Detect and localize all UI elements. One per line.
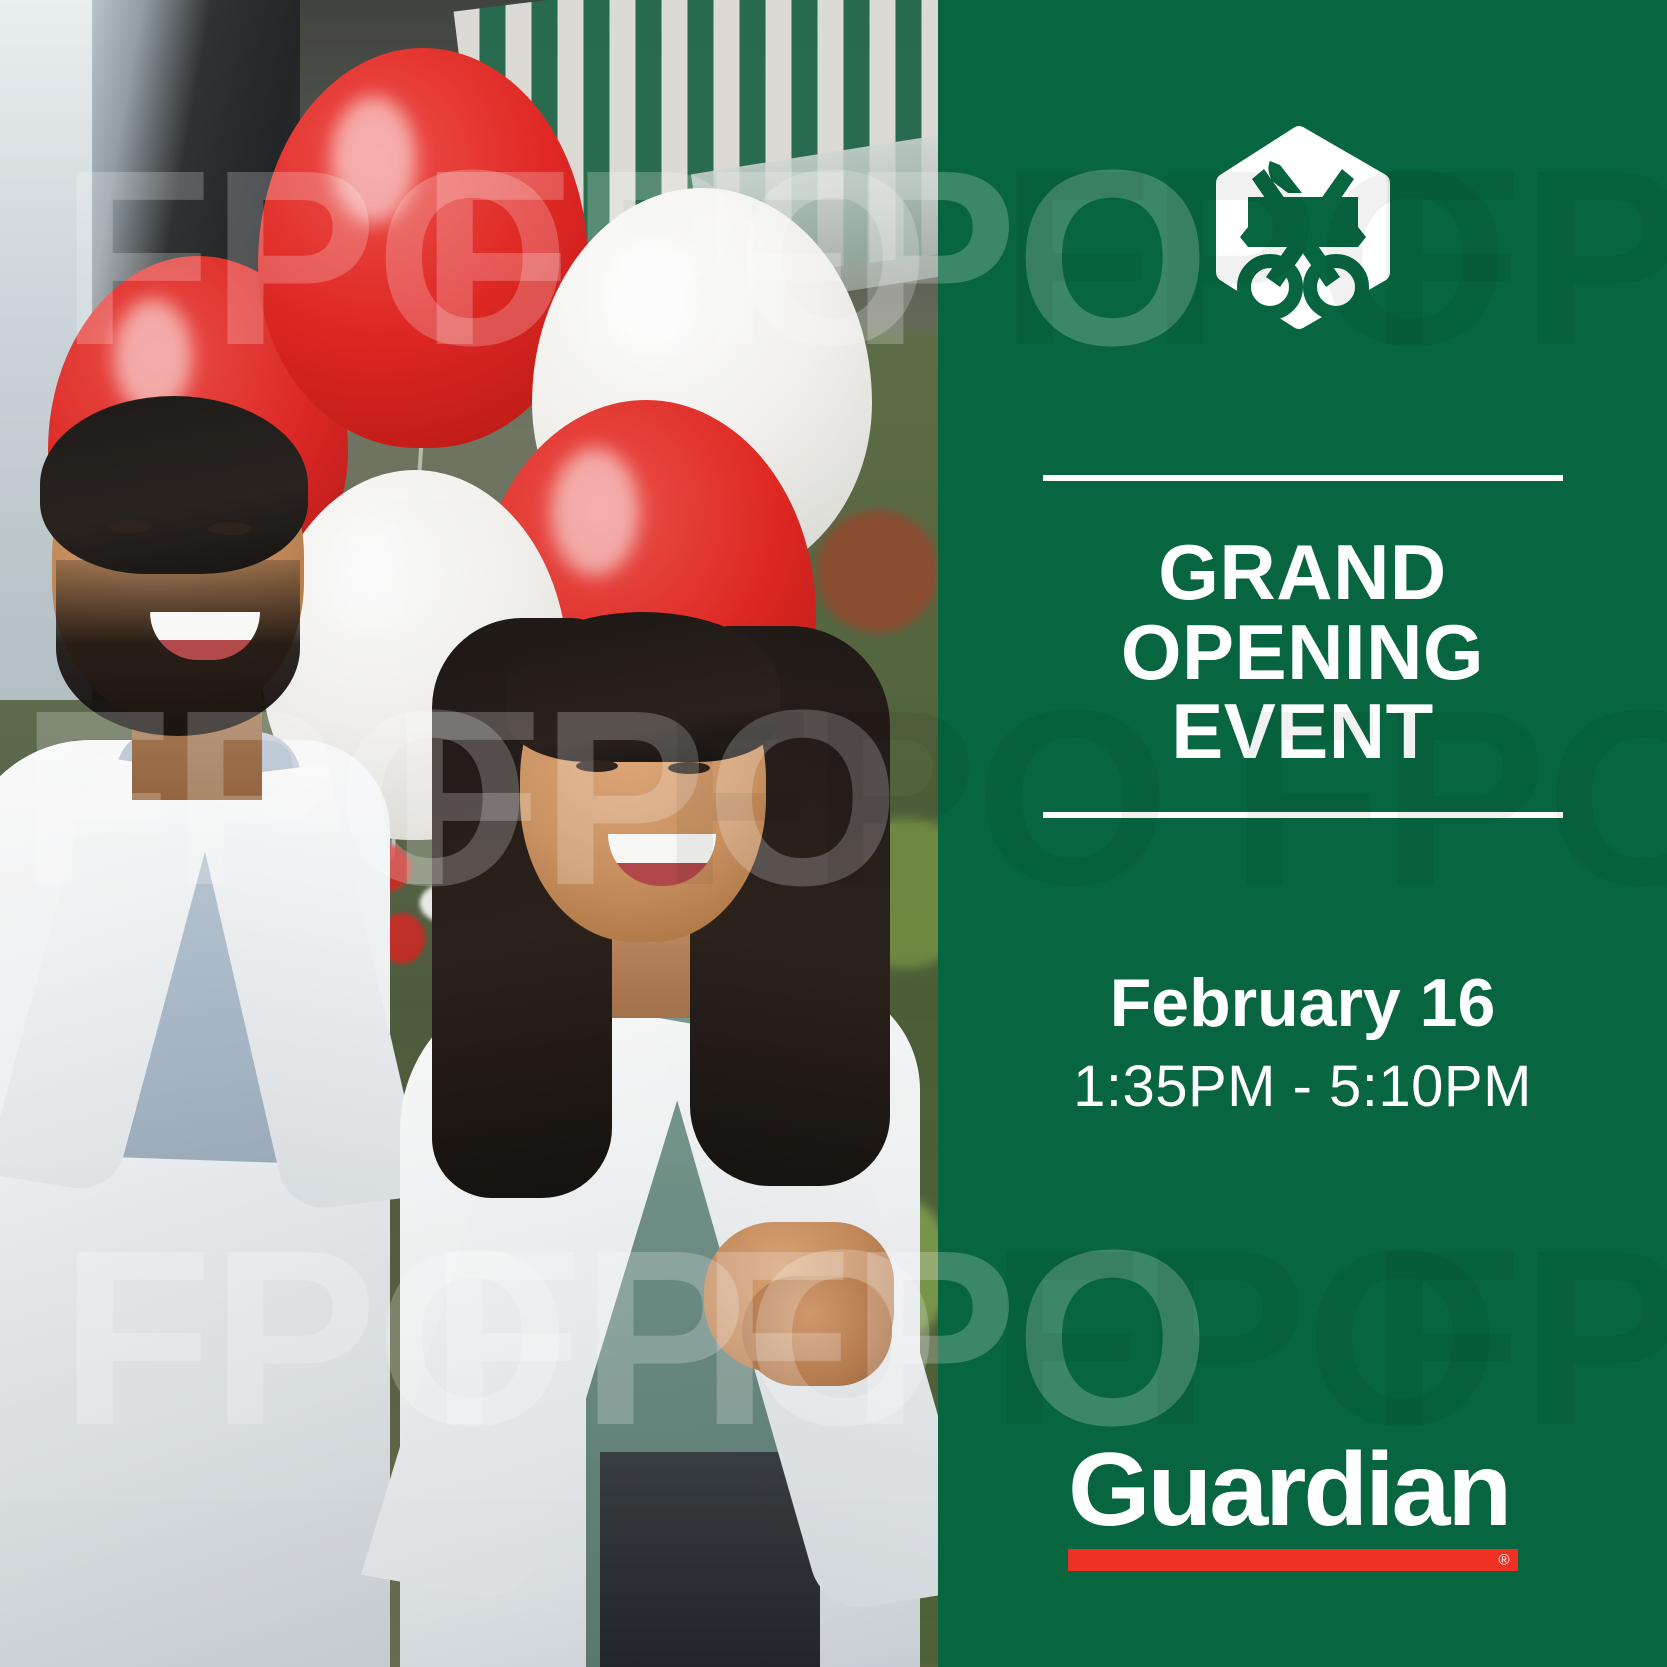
divider-top [1043,475,1563,481]
page-title: GRAND OPENING EVENT [1121,533,1484,772]
event-time: 1:35PM - 5:10PM [1073,1057,1532,1118]
guardian-wordmark: Guardian [1068,1443,1547,1539]
event-date: February 16 [1110,968,1496,1039]
headline-line-1: GRAND [1121,533,1484,613]
grand-opening-poster: GRAND OPENING EVENT February 16 1:35PM -… [0,0,1667,1667]
hero-photo [0,0,938,1667]
divider-bottom [1043,812,1563,818]
registered-trademark-icon: ® [1498,1553,1509,1568]
event-details-panel: GRAND OPENING EVENT February 16 1:35PM -… [938,0,1667,1667]
guardian-logo-underline: ® [1068,1549,1518,1571]
headline-line-3: EVENT [1121,692,1484,772]
guardian-logo: Guardian ® [1068,1443,1538,1571]
headline-line-2: OPENING [1121,613,1484,693]
ribbon-cutting-scissors-badge-icon [1214,125,1392,330]
photo-tone-overlay [0,0,938,1667]
